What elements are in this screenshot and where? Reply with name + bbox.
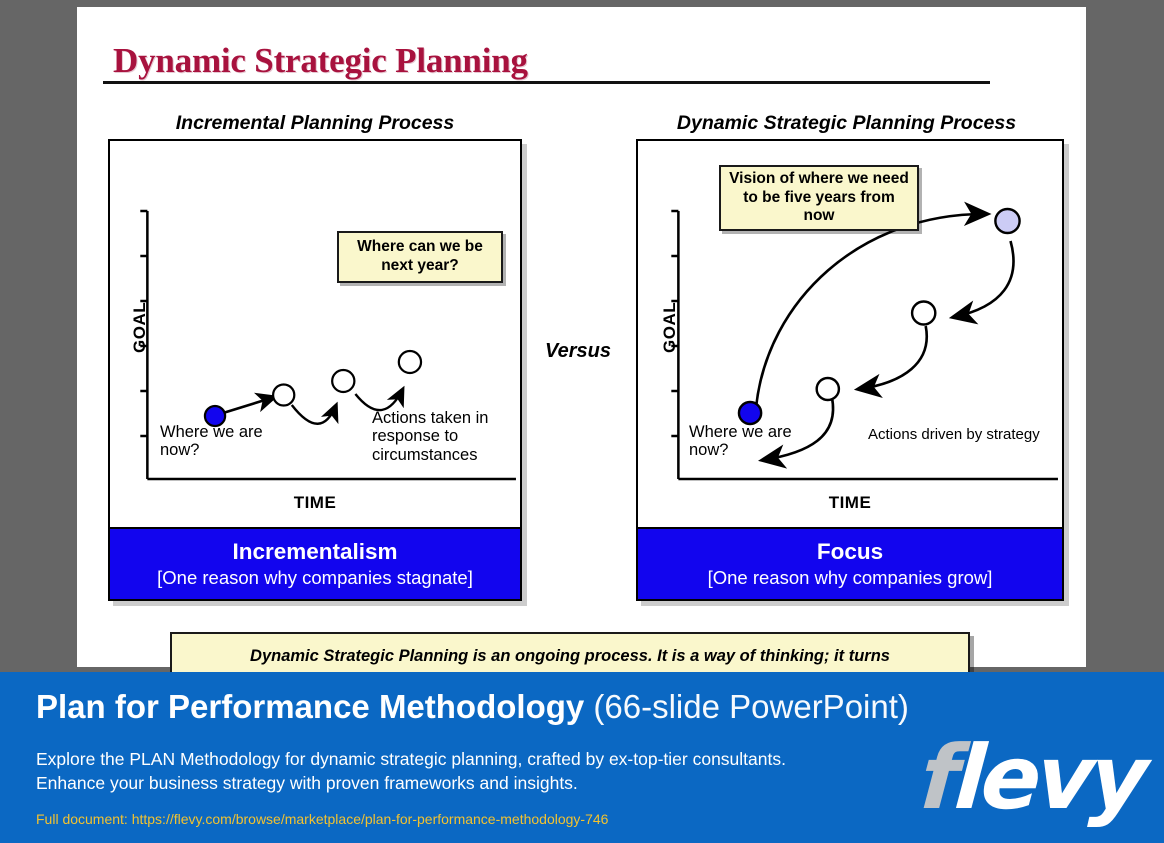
banner-document-link[interactable]: Full document: https://flevy.com/browse/… — [36, 811, 608, 827]
left-y-axis-label: GOAL — [130, 302, 150, 353]
right-x-axis-label: TIME — [638, 493, 1062, 513]
banner-title-bold: Plan for Performance Methodology — [36, 688, 584, 725]
right-current-state-note: Where we are now? — [689, 423, 809, 460]
incrementalism-footer: Incrementalism [One reason why companies… — [110, 527, 520, 599]
left-question-callout: Where can we be next year? — [337, 231, 503, 283]
flevy-logo-levy: levy — [952, 726, 1148, 829]
left-x-axis-label: TIME — [110, 493, 520, 513]
page-title: Dynamic Strategic Planning — [113, 41, 528, 81]
dynamic-chart: GOAL Vision of where we need to be five … — [638, 141, 1062, 523]
right-actions-note: Actions driven by strategy — [868, 427, 1058, 444]
left-footer-title: Incrementalism — [232, 539, 397, 565]
banner-title-light: (66-slide PowerPoint) — [584, 688, 909, 725]
banner-title: Plan for Performance Methodology (66-sli… — [36, 688, 909, 726]
incremental-chart: GOAL Where can we be next year? Where we… — [110, 141, 520, 523]
right-footer-title: Focus — [817, 539, 883, 565]
versus-label: Versus — [526, 340, 630, 363]
right-footer-subtitle: [One reason why companies grow] — [708, 567, 993, 589]
right-panel-heading: Dynamic Strategic Planning Process — [629, 112, 1064, 135]
title-divider — [103, 81, 990, 84]
left-current-state-note: Where we are now? — [160, 423, 280, 460]
left-actions-note: Actions taken in response to circumstanc… — [372, 409, 517, 464]
slide-canvas: Dynamic Strategic Planning Incremental P… — [77, 7, 1086, 667]
dynamic-planning-panel: GOAL Vision of where we need to be five … — [636, 139, 1064, 601]
flevy-promo-banner: Plan for Performance Methodology (66-sli… — [0, 672, 1164, 843]
flevy-logo: flevy — [918, 734, 1147, 822]
incremental-planning-panel: GOAL Where can we be next year? Where we… — [108, 139, 522, 601]
incremental-chart-svg — [110, 141, 520, 523]
left-panel-heading: Incremental Planning Process — [108, 112, 522, 135]
left-footer-subtitle: [One reason why companies stagnate] — [157, 567, 473, 589]
focus-footer: Focus [One reason why companies grow] — [638, 527, 1062, 599]
right-y-axis-label: GOAL — [660, 302, 680, 353]
banner-description: Explore the PLAN Methodology for dynamic… — [36, 747, 796, 795]
right-vision-callout: Vision of where we need to be five years… — [719, 165, 919, 231]
